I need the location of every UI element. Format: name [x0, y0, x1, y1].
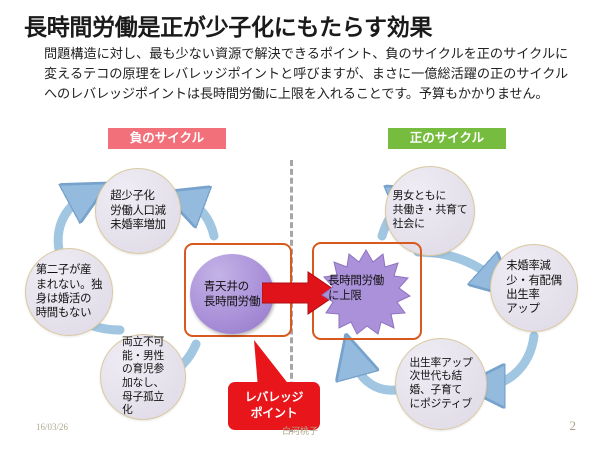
- list-item: 第二子が産 まれない。独 身は婚活の 時間もない: [25, 248, 113, 336]
- pos-node-bot-label: 出生率アップ 次世代も結 婚、子育て にポジティブ: [406, 357, 477, 411]
- banner-positive-cycle: 正のサイクル: [388, 128, 506, 149]
- arrow-pos-mid-to-bot: [484, 336, 534, 386]
- list-item: 両立不可 能・男性 の育児参 加なし、 母子孤立 化: [100, 334, 186, 420]
- list-item: 超少子化 労働人口減 未婚率増加: [95, 168, 181, 254]
- neg-node-top-label: 超少子化 労働人口減 未婚率増加: [106, 189, 169, 232]
- banner-negative-cycle: 負のサイクル: [108, 128, 226, 149]
- list-item: 出生率アップ 次世代も結 婚、子育て にポジティブ: [395, 338, 487, 430]
- center-problem-label: 青天井の 長時間労働: [204, 279, 260, 309]
- neg-node-bot-label: 両立不可 能・男性 の育児参 加なし、 母子孤立 化: [118, 336, 168, 418]
- leverage-point-label: レバレッジ ポイント: [228, 382, 320, 430]
- body-paragraph: 問題構造に対し、最も少ない資源で解決できるポイント、負のサイクルを正のサイクルに…: [44, 44, 568, 104]
- footer-page-number: 2: [570, 418, 577, 434]
- pos-node-top-label: 男女ともに 共働き・共育て 社会に: [389, 190, 472, 232]
- arrow-neg-top-to-center: [184, 200, 214, 236]
- arrow-pos-top-to-mid: [418, 252, 498, 282]
- footer-author: 白河桃子: [0, 424, 600, 437]
- center-solution-label: 長時間労働 に上限: [328, 274, 408, 304]
- slide-canvas: 長時間労働是正が少子化にもたらす効果 問題構造に対し、最も少ない資源で解決できる…: [0, 0, 600, 450]
- leverage-point-callout: レバレッジ ポイント: [228, 336, 320, 434]
- center-solution-starburst: 長時間労働 に上限: [320, 248, 412, 336]
- arrow-pos-bot-to-center: [352, 356, 396, 390]
- pos-node-mid-label: 未婚率減 少・有配偶 出生率 アップ: [502, 259, 565, 316]
- list-item: 未婚率減 少・有配偶 出生率 アップ: [490, 244, 578, 332]
- page-title: 長時間労働是正が少子化にもたらす効果: [24, 8, 584, 42]
- neg-node-mid-label: 第二子が産 まれない。独 身は婚活の 時間もない: [32, 263, 107, 320]
